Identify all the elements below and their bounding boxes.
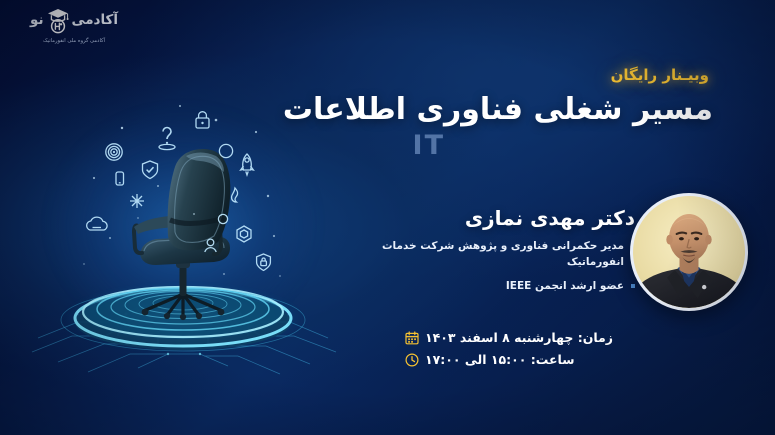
fingerprint-icon [106, 144, 122, 160]
shield-lock-icon [257, 254, 271, 270]
clock-icon [405, 353, 419, 367]
rocket-icon [241, 154, 254, 175]
calendar-icon [405, 331, 419, 345]
brand-word-left: نو [30, 14, 44, 28]
brand-tagline: آکادمی گروه ملی انفورماتیک [14, 38, 134, 44]
lock-icon [196, 112, 209, 128]
speaker-name: دکتر مهدی نمازی [465, 206, 635, 230]
kicker-free-webinar: وبیـنار رایگان [611, 66, 709, 84]
speaker-portrait [630, 193, 748, 311]
credential-text: مدیر حکمرانی فناوری و پژوهش شرکت خدمات ا… [335, 238, 624, 271]
brand-logo-row: آکادمی نو [14, 6, 134, 36]
event-date-label: زمان: چهارشنبه ۸ اسفند ۱۴۰۳ [425, 330, 613, 345]
event-date-row: زمان: چهارشنبه ۸ اسفند ۱۴۰۳ [405, 330, 613, 345]
event-time-row: ساعت: ۱۵:۰۰ الی ۱۷:۰۰ [405, 352, 613, 367]
brand-logo[interactable]: آکادمی نو آکادمی گروه ملی انفورماتیک [14, 6, 134, 52]
flame-icon [232, 188, 238, 202]
credential-text: عضو ارشد انجمن IEEE [506, 278, 624, 294]
shield-check-icon [143, 161, 158, 179]
circle-icon [219, 144, 232, 157]
title-subscript-it: IT [413, 130, 445, 161]
chip-icon [237, 226, 251, 242]
snowflake-icon [130, 194, 144, 208]
cloud-icon [87, 217, 107, 230]
event-meta: زمان: چهارشنبه ۸ اسفند ۱۴۰۳ ساعت [405, 330, 613, 374]
speaker-credentials: مدیر حکمرانی فناوری و پژوهش شرکت خدمات ا… [335, 238, 635, 301]
hero-artwork [18, 86, 348, 376]
page-title: مسیر شغلی فناوری اطلاعات [283, 92, 713, 127]
hero-artwork-svg [18, 86, 348, 376]
credential-item: عضو ارشد انجمن IEEE [335, 278, 635, 294]
brand-word-right: آکادمی [72, 14, 119, 28]
bullet-icon [631, 284, 635, 288]
webinar-poster: آکادمی نو آکادمی گروه ملی انفورماتیک [0, 0, 775, 435]
mobile-icon [116, 172, 124, 185]
question-mark-icon [159, 128, 175, 150]
event-time-label: ساعت: ۱۵:۰۰ الی ۱۷:۰۰ [425, 352, 575, 367]
speaker-portrait-illustration [633, 196, 745, 308]
credential-item: مدیر حکمرانی فناوری و پژوهش شرکت خدمات ا… [335, 238, 635, 271]
graduation-cap-lightbulb-icon [46, 8, 70, 34]
